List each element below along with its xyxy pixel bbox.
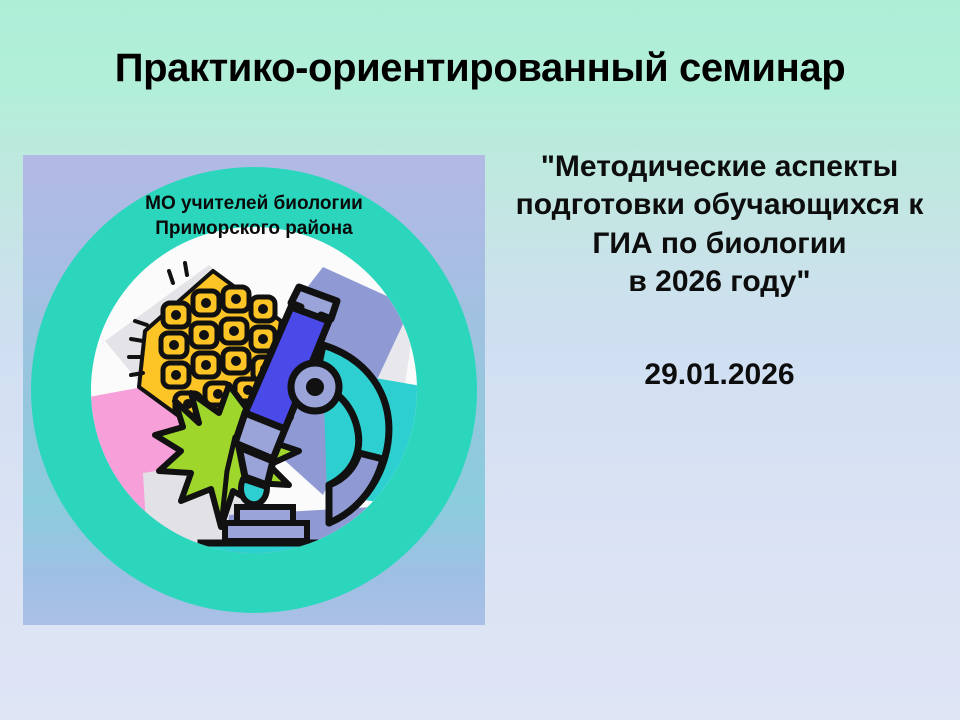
- subtitle-line-4: в 2026 году": [497, 263, 942, 301]
- logo-caption: МО учителей биологии Приморского района: [23, 191, 485, 242]
- logo-caption-line-1: МО учителей биологии: [23, 191, 485, 216]
- page-title: Практико-ориентированный семинар: [0, 46, 960, 91]
- subtitle-line-3: ГИА по биологии: [497, 225, 942, 263]
- subtitle-line-2: подготовки обучающихся к: [497, 186, 942, 224]
- logo-image: МО учителей биологии Приморского района: [23, 155, 485, 625]
- logo-caption-line-2: Приморского района: [23, 216, 485, 241]
- presentation-slide: Практико-ориентированный семинар: [0, 0, 960, 720]
- seminar-date: 29.01.2026: [497, 358, 942, 392]
- subtitle-line-1: "Методические аспекты: [497, 148, 942, 186]
- seminar-subtitle: "Методические аспекты подготовки обучающ…: [497, 148, 942, 302]
